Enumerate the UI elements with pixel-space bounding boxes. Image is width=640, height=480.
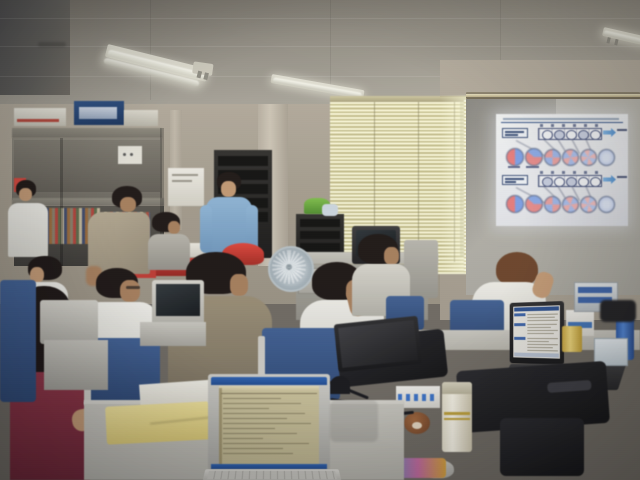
ceiling-vent xyxy=(38,42,66,47)
dark-equipment xyxy=(600,300,636,322)
slide-cell xyxy=(525,148,543,166)
bookshelf-top xyxy=(12,128,162,138)
slide-row1-tick-labels xyxy=(540,124,598,127)
storage-box-blue xyxy=(74,101,124,125)
storage-box-white xyxy=(14,108,66,126)
slide-row1-badge xyxy=(502,128,528,138)
slide-title-text xyxy=(503,118,619,120)
slide-row1-sequence xyxy=(538,128,602,140)
slide-cell xyxy=(506,195,524,213)
projected-slide xyxy=(496,114,628,226)
laptop-foreground-keyboard[interactable] xyxy=(203,469,342,480)
paper-cup xyxy=(562,326,582,352)
ceiling-seam xyxy=(0,18,640,19)
glasses xyxy=(126,286,140,289)
person-seated-back-left-torso xyxy=(148,234,190,270)
bag-secondary xyxy=(500,418,584,476)
laptop-foreground-bezel-top xyxy=(211,377,327,385)
slide-cell xyxy=(580,196,597,213)
classroom-photo xyxy=(0,0,640,480)
laptop-foreground-screen xyxy=(219,386,319,464)
slide-cell xyxy=(562,196,579,213)
chair-far-left[interactable] xyxy=(0,280,36,402)
ceiling-shadow-left xyxy=(0,0,70,95)
laptop-center[interactable] xyxy=(334,316,423,373)
slide-title-rule xyxy=(501,122,623,123)
slide-cell xyxy=(506,148,524,166)
ceiling-seam xyxy=(500,0,501,62)
computer-box-left xyxy=(40,300,98,344)
thermos-bottle xyxy=(442,382,472,452)
slide-legend-right xyxy=(526,166,539,168)
slide-row2-flow-arrow xyxy=(603,175,616,184)
desk-item xyxy=(322,204,338,216)
desk-left-front xyxy=(44,340,108,390)
laptop-right[interactable] xyxy=(510,301,564,365)
slide-cell xyxy=(562,149,579,166)
slide-cell xyxy=(544,196,561,213)
laptop-foreground[interactable] xyxy=(208,374,330,470)
person-standing-camo-torso xyxy=(88,212,150,274)
plush-dog-toy xyxy=(404,412,430,434)
storage-box-small xyxy=(124,110,158,126)
desk-fan[interactable] xyxy=(268,246,314,292)
slide-row2-sequence xyxy=(538,175,602,187)
cable-loop xyxy=(330,376,350,394)
person-presenter-arm xyxy=(200,205,212,253)
projection-screen-roller-highlight xyxy=(466,94,640,97)
person-presenter-standing xyxy=(216,172,242,200)
ceiling-seam xyxy=(330,0,331,90)
ceiling-seam xyxy=(0,46,640,47)
person-standing-left-torso xyxy=(8,203,48,257)
slide-cell xyxy=(544,149,561,166)
notice-board xyxy=(168,168,204,206)
slide-row2-badge xyxy=(502,175,528,185)
slide-row1-flow-arrow xyxy=(603,128,616,137)
slide-cell xyxy=(580,149,597,166)
slide-row2-tick-labels xyxy=(540,171,598,174)
slide-cell xyxy=(598,149,615,166)
laptop-foreground-bezel-bottom xyxy=(211,464,327,469)
laptop-right-screen xyxy=(513,305,560,358)
shelf-post xyxy=(60,138,63,266)
slide-row2-flow-label xyxy=(617,176,627,178)
computer-base-left xyxy=(140,322,206,346)
slide-legend-left xyxy=(508,166,520,168)
wall-panel xyxy=(118,146,142,164)
slide-cell xyxy=(598,196,615,213)
slide-row1-flow-label xyxy=(617,129,627,131)
desk-shadow xyxy=(330,400,378,442)
slide-cell xyxy=(525,195,543,213)
crt-monitor-left[interactable] xyxy=(152,280,204,326)
